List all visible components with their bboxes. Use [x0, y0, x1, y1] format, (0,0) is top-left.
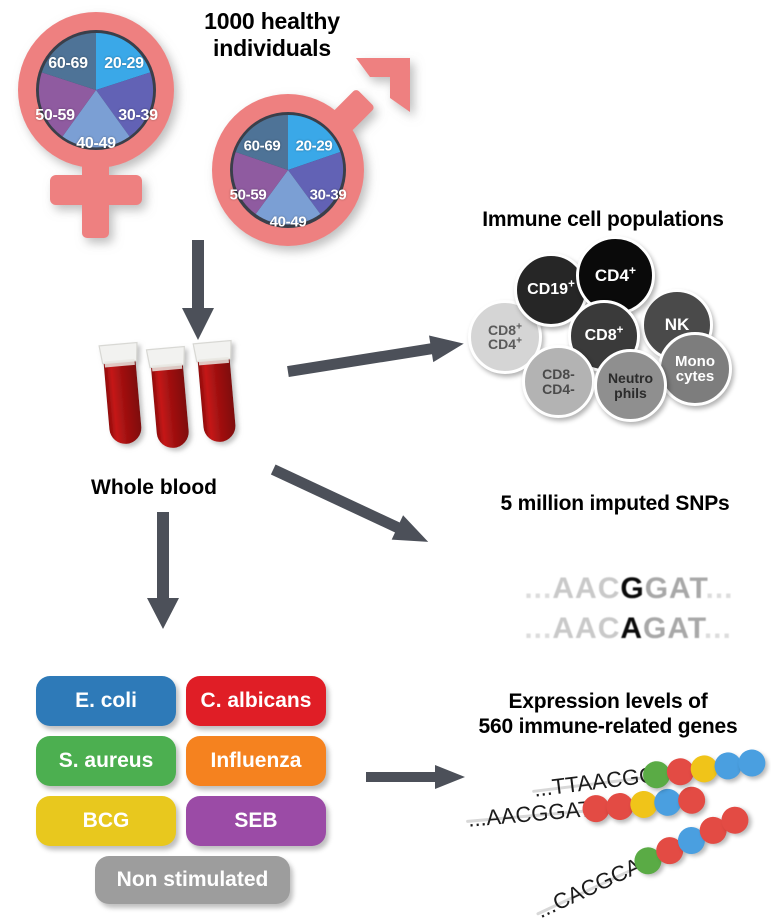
cell-label-cd8-cd4-positive: CD8+CD4+ — [488, 323, 522, 352]
stimulus-s-aureus[interactable]: S. aureus — [36, 736, 176, 786]
arrow-stimuli-to-expression — [366, 762, 466, 792]
cell-cd8-cd4-negative: CD8-CD4- — [522, 345, 595, 418]
snp-sequence-2: ...AACAGAT... — [487, 578, 732, 680]
cell-label-cd8-cd4-negative: CD8-CD4- — [542, 367, 575, 396]
stimulus-e-coli[interactable]: E. coli — [36, 676, 176, 726]
stimulus-label-c-albicans: C. albicans — [201, 689, 312, 713]
stimulus-label-non-stimulated: Non stimulated — [117, 868, 269, 892]
snps-heading: 5 million imputed SNPs — [470, 492, 760, 517]
cell-neutrophils: Neutrophils — [594, 349, 667, 422]
strand-top-bead-5 — [737, 748, 767, 778]
stimulus-label-influenza: Influenza — [210, 749, 301, 773]
snp-2-prefix: ... — [524, 612, 552, 645]
stimulus-label-s-aureus: S. aureus — [59, 749, 154, 773]
snp-2-variant: A — [620, 612, 643, 645]
cell-label-cd19-positive: CD19+ — [527, 282, 575, 298]
stimulus-label-bcg: BCG — [83, 809, 130, 833]
strand-middle-bead-5 — [677, 786, 706, 815]
stimulus-seb[interactable]: SEB — [186, 796, 326, 846]
snp-2-left: AAC — [552, 612, 620, 645]
cell-label-monocytes: Monocytes — [675, 354, 715, 385]
cell-label-neutrophils: Neutrophils — [608, 371, 653, 400]
cell-label-cd4-positive: CD4+ — [595, 267, 636, 285]
cell-monocytes: Monocytes — [658, 332, 732, 406]
expression-heading: Expression levels of 560 immune-related … — [452, 690, 764, 740]
stimulus-influenza[interactable]: Influenza — [186, 736, 326, 786]
cell-label-nk: NK — [665, 316, 690, 334]
stimulus-c-albicans[interactable]: C. albicans — [186, 676, 326, 726]
snp-2-suffix: ... — [704, 612, 732, 645]
stimulus-label-seb: SEB — [234, 809, 277, 833]
cell-label-cd8-positive: CD8+ — [585, 328, 624, 344]
expression-heading-line2: 560 immune-related genes — [452, 715, 764, 740]
stimulus-bcg[interactable]: BCG — [36, 796, 176, 846]
snp-2-right: GAT — [643, 612, 704, 645]
stimuli-panel: E. coli C. albicans S. aureus Influenza … — [0, 0, 360, 922]
expression-heading-line1: Expression levels of — [452, 690, 764, 715]
stimulus-label-e-coli: E. coli — [75, 689, 137, 713]
figure-canvas: 1000 healthy individuals — [0, 0, 771, 922]
stimulus-non-stimulated[interactable]: Non stimulated — [95, 856, 290, 904]
